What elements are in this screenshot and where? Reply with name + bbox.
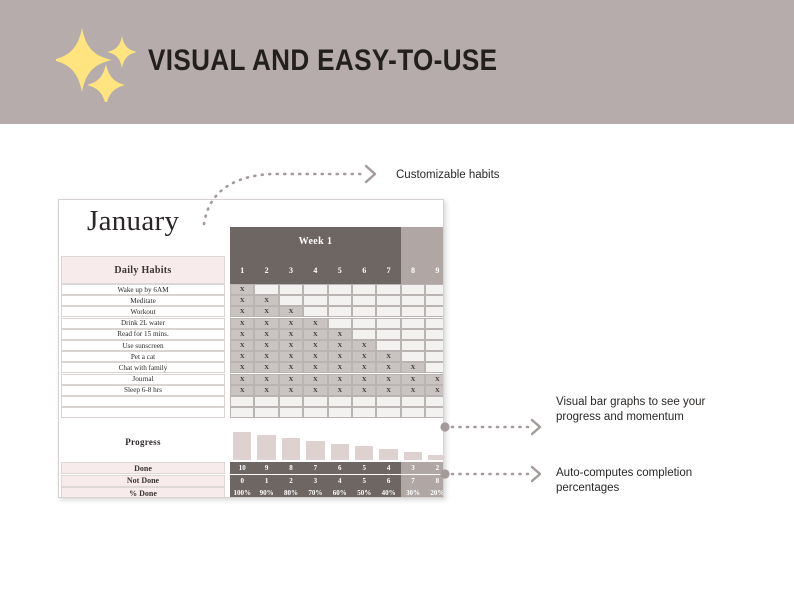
- habit-cell-empty[interactable]: [376, 306, 400, 317]
- habit-cell-empty[interactable]: [352, 318, 376, 329]
- summary-value: 9: [254, 462, 278, 474]
- habit-cell-empty[interactable]: [328, 284, 352, 295]
- summary-label--done: % Done: [61, 487, 225, 498]
- progress-bar-7: [379, 424, 397, 460]
- habit-label-row[interactable]: Journal: [61, 374, 225, 385]
- blank-label-row[interactable]: [61, 407, 225, 418]
- habit-cell-empty[interactable]: [352, 329, 376, 340]
- dashed-path: [204, 174, 366, 224]
- summary-label-done: Done: [61, 462, 225, 474]
- habit-cell-checked[interactable]: X: [254, 306, 278, 317]
- connector-dot-icon: [440, 422, 449, 431]
- sparkles-group: [56, 26, 152, 102]
- day-header-9[interactable]: 9: [425, 256, 444, 284]
- habit-cell-empty[interactable]: [279, 284, 303, 295]
- habit-cell-empty[interactable]: [425, 284, 444, 295]
- habit-cell-checked[interactable]: X: [279, 351, 303, 362]
- habit-cell-checked[interactable]: X: [230, 340, 254, 351]
- arrowhead-icon: [532, 467, 540, 481]
- habit-cell-empty[interactable]: [352, 295, 376, 306]
- summary-value: 3: [303, 475, 327, 487]
- day-header-3[interactable]: 3: [279, 256, 303, 284]
- day-header-1[interactable]: 1: [230, 256, 254, 284]
- habit-cell-checked[interactable]: X: [401, 362, 425, 373]
- day-header-5[interactable]: 5: [328, 256, 352, 284]
- summary-value: 0: [230, 475, 254, 487]
- habit-cell-empty[interactable]: [425, 306, 444, 317]
- habit-cell-checked[interactable]: X: [279, 340, 303, 351]
- habit-cell-checked[interactable]: X: [254, 318, 278, 329]
- habit-cell-checked[interactable]: X: [328, 374, 352, 385]
- summary-value: 6: [328, 462, 352, 474]
- habit-cell-checked[interactable]: X: [352, 374, 376, 385]
- habit-cell-checked[interactable]: X: [254, 329, 278, 340]
- summary-value: 7: [401, 475, 425, 487]
- habit-cell-empty[interactable]: [352, 284, 376, 295]
- habit-cell-checked[interactable]: X: [230, 329, 254, 340]
- habit-cell-empty[interactable]: [401, 340, 425, 351]
- habit-cell-checked[interactable]: X: [328, 385, 352, 396]
- habit-cell-checked[interactable]: X: [401, 374, 425, 385]
- header-band: VISUAL AND EASY-TO-USE: [0, 0, 794, 124]
- habit-cell-checked[interactable]: X: [303, 351, 327, 362]
- habit-cell-checked[interactable]: X: [254, 385, 278, 396]
- bar: [379, 449, 397, 460]
- bar: [404, 452, 422, 460]
- summary-value: 50%: [352, 487, 376, 498]
- arrowhead-icon: [532, 420, 540, 434]
- habit-cell-checked[interactable]: X: [328, 340, 352, 351]
- blank-cell[interactable]: [279, 407, 303, 418]
- habit-cell-empty[interactable]: [303, 295, 327, 306]
- habit-cell-empty[interactable]: [303, 306, 327, 317]
- habit-cell-checked[interactable]: X: [230, 306, 254, 317]
- blank-cell[interactable]: [352, 396, 376, 407]
- habit-cell-checked[interactable]: X: [279, 329, 303, 340]
- habit-label-row[interactable]: Pet a cat: [61, 351, 225, 362]
- sparkle-small-icon: [107, 36, 137, 68]
- bar: [331, 444, 349, 461]
- habit-cell-checked[interactable]: X: [230, 318, 254, 329]
- habit-cell-checked[interactable]: X: [254, 295, 278, 306]
- progress-label: Progress: [61, 424, 225, 460]
- habit-cell-checked[interactable]: X: [230, 295, 254, 306]
- habit-cell-checked[interactable]: X: [376, 374, 400, 385]
- summary-value: 30%: [401, 487, 425, 498]
- blank-cell[interactable]: [303, 407, 327, 418]
- summary-value: 2: [279, 475, 303, 487]
- habit-cell-checked[interactable]: X: [230, 385, 254, 396]
- habit-cell-empty[interactable]: [401, 351, 425, 362]
- bar: [428, 455, 444, 461]
- habit-cell-checked[interactable]: X: [425, 374, 444, 385]
- habit-cell-checked[interactable]: X: [303, 362, 327, 373]
- habit-cell-checked[interactable]: X: [230, 284, 254, 295]
- habit-cell-checked[interactable]: X: [376, 351, 400, 362]
- planner-card: January Week 1 Daily Habits 123456789Wak…: [58, 199, 444, 498]
- blank-cell[interactable]: [328, 396, 352, 407]
- blank-cell[interactable]: [254, 407, 278, 418]
- bar: [257, 435, 275, 460]
- habit-cell-checked[interactable]: X: [230, 362, 254, 373]
- habit-cell-empty[interactable]: [401, 318, 425, 329]
- habit-cell-checked[interactable]: X: [401, 385, 425, 396]
- habit-cell-empty[interactable]: [401, 284, 425, 295]
- habit-cell-empty[interactable]: [352, 306, 376, 317]
- arrowhead-icon: [366, 166, 375, 182]
- habit-cell-checked[interactable]: X: [352, 362, 376, 373]
- day-header-6[interactable]: 6: [352, 256, 376, 284]
- habit-cell-checked[interactable]: X: [254, 351, 278, 362]
- bar: [233, 432, 251, 460]
- habit-cell-checked[interactable]: X: [303, 318, 327, 329]
- blank-cell[interactable]: [230, 407, 254, 418]
- habit-cell-checked[interactable]: X: [279, 362, 303, 373]
- summary-value: 4: [376, 462, 400, 474]
- annotation-visual-bar-graphs: Visual bar graphs to see your progress a…: [556, 395, 731, 425]
- annotation-customizable-habits: Customizable habits: [396, 168, 596, 183]
- habit-cell-checked[interactable]: X: [279, 306, 303, 317]
- habit-cell-empty[interactable]: [425, 340, 444, 351]
- annotation-auto-computes: Auto-computes completion percentages: [556, 466, 746, 496]
- summary-value: 1: [254, 475, 278, 487]
- blank-cell[interactable]: [352, 407, 376, 418]
- summary-value: 3: [401, 462, 425, 474]
- day-header-8[interactable]: 8: [401, 256, 425, 284]
- blank-cell[interactable]: [328, 407, 352, 418]
- blank-cell[interactable]: [425, 396, 444, 407]
- habit-cell-empty[interactable]: [328, 295, 352, 306]
- habit-label-row[interactable]: Wake up by 6AM: [61, 284, 225, 295]
- blank-cell[interactable]: [376, 396, 400, 407]
- summary-value: 90%: [254, 487, 278, 498]
- progress-bar-5: [331, 424, 349, 460]
- progress-bar-1: [233, 424, 251, 460]
- habit-cell-empty[interactable]: [303, 284, 327, 295]
- habit-cell-checked[interactable]: X: [254, 374, 278, 385]
- summary-value: 100%: [230, 487, 254, 498]
- summary-value: 5: [352, 475, 376, 487]
- habit-cell-checked[interactable]: X: [352, 340, 376, 351]
- habit-cell-checked[interactable]: X: [425, 385, 444, 396]
- progress-bar-4: [306, 424, 324, 460]
- blank-label-row[interactable]: [61, 396, 225, 407]
- habit-cell-checked[interactable]: X: [376, 385, 400, 396]
- habit-cell-checked[interactable]: X: [303, 340, 327, 351]
- habit-grid: 123456789Wake up by 6AMXMeditateXXWorkou…: [59, 200, 444, 498]
- summary-value: 20%: [425, 487, 444, 498]
- habit-cell-checked[interactable]: X: [230, 351, 254, 362]
- habit-cell-empty[interactable]: [376, 284, 400, 295]
- summary-value: 60%: [328, 487, 352, 498]
- progress-bar-6: [355, 424, 373, 460]
- connector-customizable-habits: [198, 162, 388, 226]
- progress-bar-3: [282, 424, 300, 460]
- connector-auto-computes: [440, 466, 550, 482]
- blank-cell[interactable]: [230, 396, 254, 407]
- habit-cell-empty[interactable]: [328, 318, 352, 329]
- connector-visual-bar-graphs: [440, 419, 550, 435]
- habit-label-row[interactable]: Sleep 6-8 hrs: [61, 385, 225, 396]
- habit-cell-empty[interactable]: [401, 295, 425, 306]
- day-header-7[interactable]: 7: [376, 256, 400, 284]
- habit-label-row[interactable]: Use sunscreen: [61, 340, 225, 351]
- summary-value: 10: [230, 462, 254, 474]
- summary-label-not-done: Not Done: [61, 475, 225, 487]
- habit-label-row[interactable]: Chat with family: [61, 362, 225, 373]
- habit-cell-checked[interactable]: X: [279, 385, 303, 396]
- habit-cell-empty[interactable]: [425, 362, 444, 373]
- habit-label-row[interactable]: Read for 15 mins.: [61, 329, 225, 340]
- habit-label-row[interactable]: Workout: [61, 306, 225, 317]
- habit-cell-checked[interactable]: X: [254, 362, 278, 373]
- summary-value: 8: [279, 462, 303, 474]
- page-title: VISUAL AND EASY-TO-USE: [148, 44, 497, 78]
- summary-value: 7: [303, 462, 327, 474]
- habit-cell-empty[interactable]: [425, 295, 444, 306]
- habit-cell-checked[interactable]: X: [279, 374, 303, 385]
- habit-cell-empty[interactable]: [254, 284, 278, 295]
- habit-cell-checked[interactable]: X: [303, 329, 327, 340]
- habit-cell-checked[interactable]: X: [328, 362, 352, 373]
- habit-cell-empty[interactable]: [425, 351, 444, 362]
- summary-value: 80%: [279, 487, 303, 498]
- blank-cell[interactable]: [254, 396, 278, 407]
- progress-bar-2: [257, 424, 275, 460]
- blank-cell[interactable]: [376, 407, 400, 418]
- summary-value: 70%: [303, 487, 327, 498]
- habit-cell-checked[interactable]: X: [303, 385, 327, 396]
- blank-cell[interactable]: [279, 396, 303, 407]
- habit-cell-empty[interactable]: [279, 295, 303, 306]
- habit-cell-empty[interactable]: [425, 329, 444, 340]
- connector-dot-icon: [440, 469, 449, 478]
- bar: [355, 446, 373, 460]
- blank-cell[interactable]: [425, 407, 444, 418]
- habit-cell-checked[interactable]: X: [352, 385, 376, 396]
- sparkle-medium-icon: [87, 64, 125, 102]
- habit-cell-empty[interactable]: [401, 329, 425, 340]
- blank-cell[interactable]: [303, 396, 327, 407]
- habit-cell-empty[interactable]: [376, 295, 400, 306]
- day-header-4[interactable]: 4: [303, 256, 327, 284]
- habit-cell-checked[interactable]: X: [230, 374, 254, 385]
- habit-cell-empty[interactable]: [425, 318, 444, 329]
- blank-cell[interactable]: [401, 396, 425, 407]
- habit-cell-empty[interactable]: [401, 306, 425, 317]
- habit-cell-checked[interactable]: X: [279, 318, 303, 329]
- summary-value: 40%: [376, 487, 400, 498]
- day-header-2[interactable]: 2: [254, 256, 278, 284]
- habit-cell-checked[interactable]: X: [328, 329, 352, 340]
- habit-cell-checked[interactable]: X: [376, 362, 400, 373]
- habit-label-row[interactable]: Meditate: [61, 295, 225, 306]
- habit-cell-checked[interactable]: X: [303, 374, 327, 385]
- habit-cell-checked[interactable]: X: [254, 340, 278, 351]
- habit-cell-checked[interactable]: X: [352, 351, 376, 362]
- bar: [306, 441, 324, 461]
- bar: [282, 438, 300, 460]
- blank-cell[interactable]: [401, 407, 425, 418]
- habit-cell-checked[interactable]: X: [328, 351, 352, 362]
- summary-value: 5: [352, 462, 376, 474]
- habit-cell-empty[interactable]: [376, 318, 400, 329]
- habit-cell-empty[interactable]: [328, 306, 352, 317]
- habit-label-row[interactable]: Drink 2L water: [61, 318, 225, 329]
- habit-cell-empty[interactable]: [376, 329, 400, 340]
- habit-cell-empty[interactable]: [376, 340, 400, 351]
- summary-value: 4: [328, 475, 352, 487]
- progress-bar-8: [404, 424, 422, 460]
- summary-value: 6: [376, 475, 400, 487]
